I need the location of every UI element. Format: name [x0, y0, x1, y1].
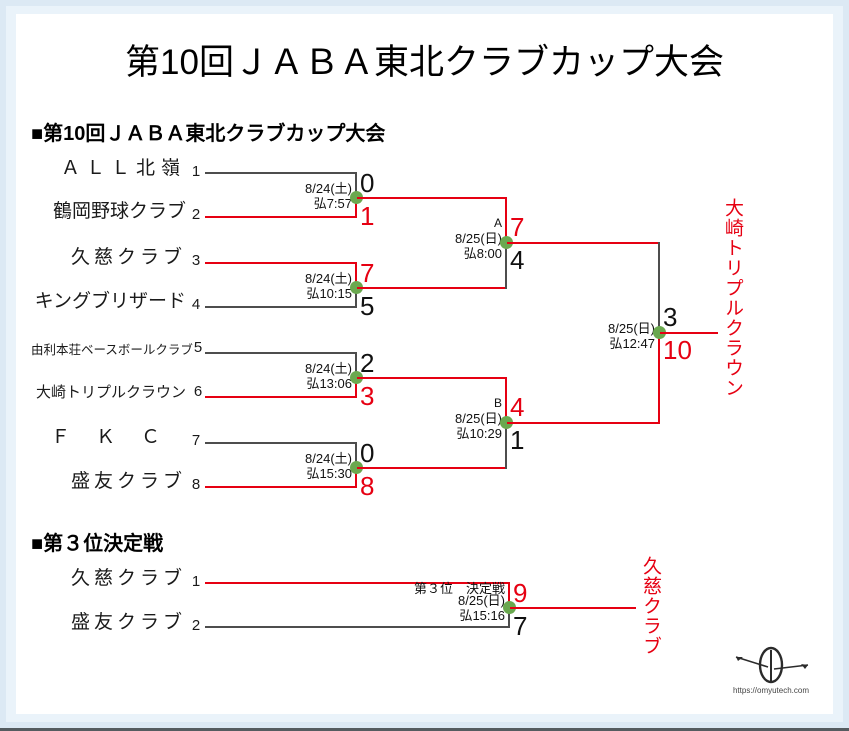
match-time-sfB: 弘10:29 [350, 426, 502, 441]
bracket-connector-final-bottom [658, 332, 660, 424]
match-date-sfA: 8/25(日) [350, 231, 502, 246]
bracket-line-third-place-winner [510, 607, 636, 609]
bracket-line-team-2 [205, 216, 357, 218]
team-seed-1: 1 [188, 161, 204, 183]
bracket-line-team-6 [205, 396, 357, 398]
team-seed-5: 5 [190, 337, 206, 359]
match-score-r1-4-top: 0 [360, 440, 374, 466]
bracket-line-final-bottom [507, 422, 660, 424]
third-place-team-seed-1: 1 [188, 571, 204, 593]
logo-url-text: https://omyutech.com [716, 686, 826, 695]
match-time-sfA: 弘8:00 [350, 246, 502, 261]
bracket-connector-final-top [658, 242, 660, 334]
bracket-line-sfA-top [357, 197, 507, 199]
match-date-final: 8/25(日) [503, 321, 655, 336]
third-place-winner-label: 久慈クラブ [637, 556, 664, 691]
bracket-line-team-3 [205, 262, 357, 264]
match-score-r1-4-bottom: 8 [360, 473, 374, 499]
match-info-r1-1: 8/24(土) 弘7:57 [200, 181, 352, 211]
match-time-r1-1: 弘7:57 [200, 196, 352, 211]
team-label-3: 久慈クラブ [31, 246, 186, 270]
match-date-r1-4: 8/24(土) [200, 451, 352, 466]
third-place-team-label-2: 盛友クラブ [31, 611, 186, 635]
omyutech-logo-icon [716, 645, 826, 687]
match-score-third-place-top: 9 [513, 580, 527, 606]
team-label-6: 大崎トリプルクラウン [31, 381, 186, 405]
match-time-r1-3: 弘13:06 [200, 376, 352, 391]
match-date-r1-2: 8/24(土) [200, 271, 352, 286]
third-place-team-label-1: 久慈クラブ [31, 567, 186, 591]
team-label-2: 鶴岡野球クラブ [31, 200, 186, 224]
match-time-r1-2: 弘10:15 [200, 286, 352, 301]
bracket-line-team-8 [205, 486, 357, 488]
match-info-sfB: 8/25(日) 弘10:29 [350, 411, 502, 441]
team-label-4: キングブリザード [31, 290, 186, 314]
match-info-r1-3: 8/24(土) 弘13:06 [200, 361, 352, 391]
third-place-team-seed-2: 2 [188, 615, 204, 637]
match-score-final-top: 3 [663, 304, 677, 330]
match-info-r1-2: 8/24(土) 弘10:15 [200, 271, 352, 301]
match-info-sfA: 8/25(日) 弘8:00 [350, 231, 502, 261]
team-label-1: ＡＬＬ北嶺 [31, 157, 186, 181]
bracket-line-team-7 [205, 442, 357, 444]
match-score-sfB-top: 4 [510, 394, 524, 420]
match-time-r1-4: 弘15:30 [200, 466, 352, 481]
match-score-r1-3-top: 2 [360, 350, 374, 376]
bracket-line-team-1 [205, 172, 357, 174]
match-label-sfA: A [350, 216, 502, 230]
match-score-r1-2-bottom: 5 [360, 293, 374, 319]
bracket-line-team-4 [205, 306, 357, 308]
team-seed-3: 3 [188, 250, 204, 272]
match-time-final: 弘12:47 [503, 336, 655, 351]
bracket-line-team-5 [205, 352, 357, 354]
match-date-r1-1: 8/24(土) [200, 181, 352, 196]
bracket-line-final-top [507, 242, 660, 244]
bracket-line-champion [660, 332, 718, 334]
champion-label: 大崎トリプルクラウン [719, 198, 746, 468]
match-score-sfB-bottom: 1 [510, 427, 524, 453]
team-seed-7: 7 [188, 430, 204, 452]
site-logo: https://omyutech.com [716, 645, 826, 703]
match-score-r1-2-top: 7 [360, 260, 374, 286]
match-score-final-bottom: 10 [663, 337, 692, 363]
bracket-page: 第10回ＪＡＢＡ東北クラブカップ大会 ■第10回ＪＡＢＡ東北クラブカップ大会 ■… [0, 0, 849, 731]
team-label-7: ＦＫＣ [31, 426, 186, 450]
match-info-final: 8/25(日) 弘12:47 [503, 321, 655, 351]
team-label-8: 盛友クラブ [31, 470, 186, 494]
match-info-third-place: 8/25(日) 弘15:16 [355, 593, 505, 623]
bracket-connector-sfA-bottom [505, 242, 507, 289]
bracket-line-third-place-bottom [205, 626, 510, 628]
bracket-line-sfB-bottom [357, 467, 507, 469]
match-time-third-place: 弘15:16 [355, 608, 505, 623]
match-score-sfA-bottom: 4 [510, 247, 524, 273]
section-heading-third-place: ■第３位決定戦 [31, 527, 163, 556]
match-score-r1-1-top: 0 [360, 170, 374, 196]
match-score-third-place-bottom: 7 [513, 613, 527, 639]
match-date-third-place: 8/25(日) [355, 593, 505, 608]
match-score-sfA-top: 7 [510, 214, 524, 240]
bracket-line-sfB-top [357, 377, 507, 379]
team-label-5: 由利本荘ベースボールクラブ [31, 338, 186, 362]
section-heading-main: ■第10回ＪＡＢＡ東北クラブカップ大会 [31, 117, 385, 146]
bracket-line-sfA-bottom [357, 287, 507, 289]
match-date-r1-3: 8/24(土) [200, 361, 352, 376]
page-title: 第10回ＪＡＢＡ東北クラブカップ大会 [0, 34, 849, 85]
bracket-connector-sfB-bottom [505, 422, 507, 469]
match-label-sfB: B [350, 396, 502, 410]
match-info-r1-4: 8/24(土) 弘15:30 [200, 451, 352, 481]
match-date-sfB: 8/25(日) [350, 411, 502, 426]
